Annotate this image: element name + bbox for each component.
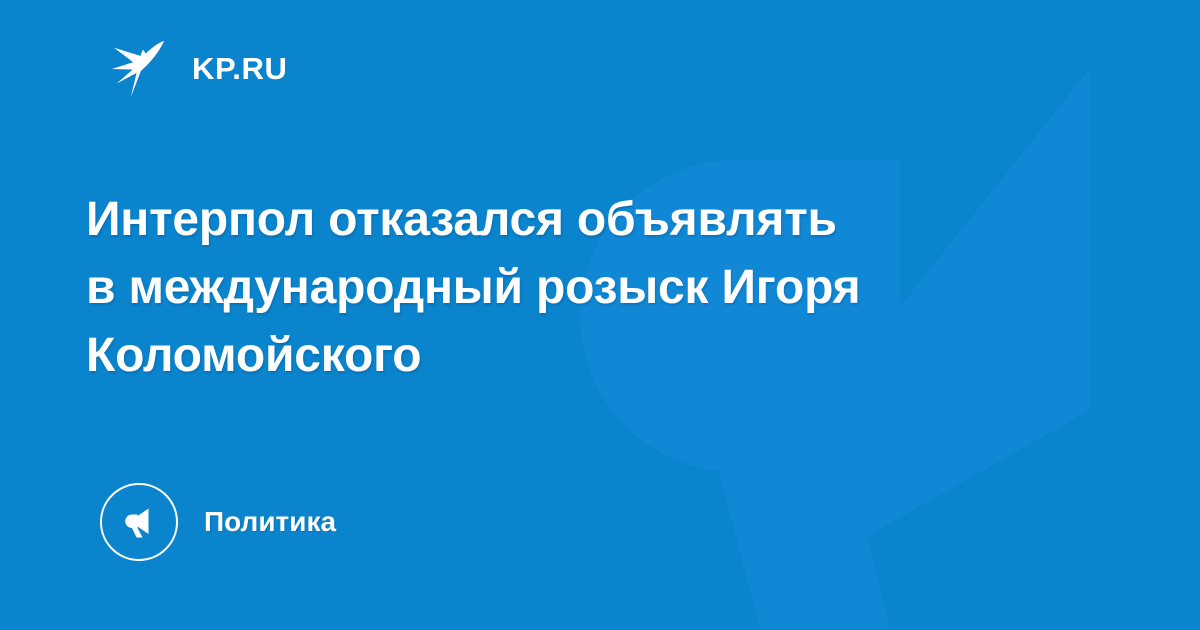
megaphone-icon <box>118 501 160 543</box>
rubric-group[interactable]: Политика <box>100 482 336 562</box>
brand-name: KP.RU <box>192 53 287 84</box>
headline-line-2: в международный розыск Игоря <box>86 254 1096 322</box>
megaphone-handle <box>706 420 890 630</box>
swallow-bird-icon <box>108 37 170 99</box>
headline-line-1: Интерпол отказался объявлять <box>86 186 1096 254</box>
kp-share-card: KP.RU Интерпол отказался объявлять в меж… <box>0 0 1200 630</box>
rubric-badge[interactable] <box>100 483 178 561</box>
page-title: Интерпол отказался объявлять в междунаро… <box>86 186 1096 390</box>
rubric-label: Политика <box>204 508 336 536</box>
headline-line-3: Коломойского <box>86 322 1096 390</box>
brand-logo-group[interactable]: KP.RU <box>108 36 287 100</box>
